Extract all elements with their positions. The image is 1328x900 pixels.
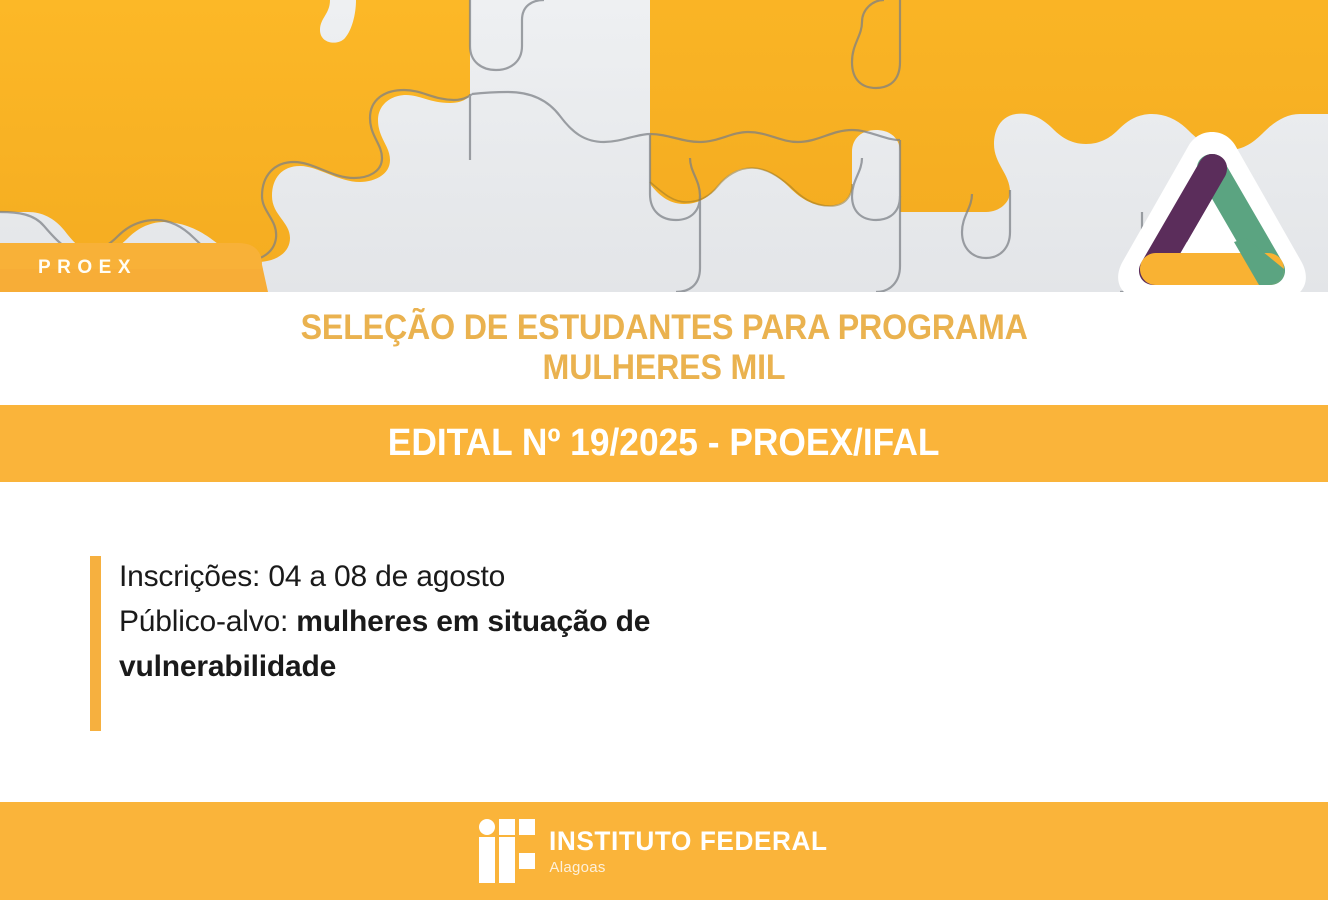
institution-campus: Alagoas bbox=[549, 860, 836, 875]
poster-title: SELEÇÃO DE ESTUDANTES PARA PROGRAMA MULH… bbox=[0, 296, 1328, 400]
title-line-1: SELEÇÃO DE ESTUDANTES PARA PROGRAMA bbox=[300, 308, 1027, 348]
institution-name: INSTITUTO FEDERAL bbox=[549, 828, 828, 855]
instituto-federal-wordmark: INSTITUTO FEDERAL Alagoas bbox=[549, 828, 836, 875]
inscricoes-value: 04 a 08 de agosto bbox=[268, 560, 505, 593]
title-line-2: MULHERES MIL bbox=[543, 348, 786, 388]
details-line-inscricoes: Inscrições: 04 a 08 de agosto bbox=[119, 554, 839, 599]
proex-unit-tab: PROEX bbox=[0, 243, 268, 292]
publico-alvo-label: Público-alvo: bbox=[119, 605, 296, 638]
edital-banner: EDITAL Nº 19/2025 - PROEX/IFAL bbox=[0, 405, 1328, 482]
details-line-publico-alvo: Público-alvo: mulheres em situação de vu… bbox=[119, 599, 839, 689]
instituto-federal-logo: INSTITUTO FEDERAL Alagoas bbox=[479, 819, 836, 883]
inscricoes-label: Inscrições: bbox=[119, 560, 268, 593]
details-section: Inscrições: 04 a 08 de agosto Público-al… bbox=[0, 482, 1328, 802]
instituto-federal-grid-icon bbox=[479, 819, 535, 883]
proex-triangle-logo bbox=[1096, 118, 1328, 306]
edital-banner-text: EDITAL Nº 19/2025 - PROEX/IFAL bbox=[388, 422, 940, 465]
poster-canvas: PROEX SELEÇÃO DE ESTUDANTES PARA PROGRAM… bbox=[0, 0, 1328, 900]
proex-tab-label: PROEX bbox=[38, 243, 137, 292]
accent-bar bbox=[90, 556, 101, 731]
details-text: Inscrições: 04 a 08 de agosto Público-al… bbox=[119, 554, 839, 689]
footer-band: INSTITUTO FEDERAL Alagoas bbox=[0, 802, 1328, 900]
